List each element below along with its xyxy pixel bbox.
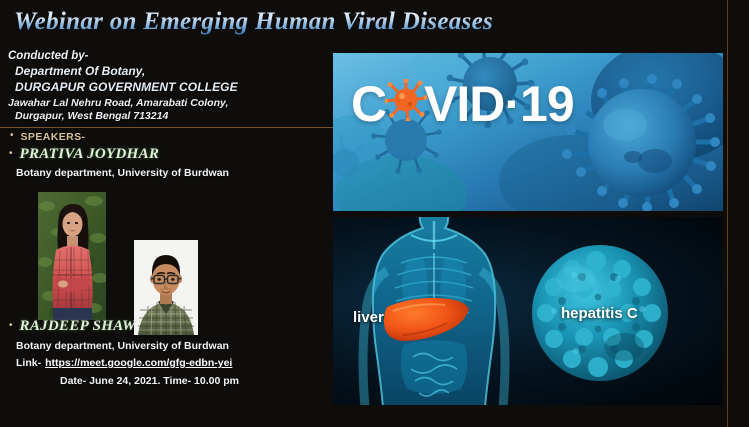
prativa-joydhar-portrait: [38, 192, 106, 320]
covid-letter-c: C: [351, 76, 386, 132]
meeting-link-label: Link-: [16, 357, 41, 369]
speaker-2-name-row: • RAJDEEP SHAW: [9, 318, 330, 335]
speaker-2-name: RAJDEEP SHAW: [20, 318, 136, 335]
speakers-heading-row: • SPEAKERS-: [10, 131, 330, 143]
covid-caption-rest: VID·19: [424, 76, 574, 132]
hepatitis-c-label: hepatitis C: [561, 305, 638, 322]
speaker-2-affiliation: Botany department, University of Burdwan: [16, 340, 330, 352]
bullet-icon: •: [9, 149, 13, 159]
meeting-link-url[interactable]: https://meet.google.com/gfg-edbn-yei: [45, 357, 232, 369]
speaker-1-name: PRATIVA JOYDHAR: [20, 146, 160, 163]
address-line-2: Durgapur, West Bengal 713214: [15, 110, 328, 122]
horizontal-divider: [0, 127, 333, 128]
right-vertical-divider: [727, 0, 728, 427]
speakers-heading: SPEAKERS-: [21, 131, 86, 143]
speaker-1-photo: [38, 192, 106, 320]
covid-19-image: COVID·19: [333, 53, 723, 211]
speaker-1-affiliation: Botany department, University of Burdwan: [16, 167, 330, 179]
meeting-datetime: Date- June 24, 2021. Time- 10.00 pm: [60, 375, 330, 387]
speakers-block: • SPEAKERS- • PRATIVA JOYDHAR Botany dep…: [10, 131, 330, 179]
conducted-by-block: Conducted by- Department Of Botany, DURG…: [6, 50, 328, 122]
conducted-by-heading: Conducted by-: [8, 50, 328, 62]
department-name: Department Of Botany,: [15, 64, 328, 78]
presentation-slide: Webinar on Emerging Human Viral Diseases…: [0, 0, 749, 427]
liver-label: liver: [353, 309, 384, 326]
bullet-icon: •: [9, 321, 13, 331]
page-title: Webinar on Emerging Human Viral Diseases: [14, 8, 714, 36]
hepatitis-c-image: liver: [333, 217, 723, 405]
lower-text-block: • RAJDEEP SHAW Botany department, Univer…: [10, 318, 330, 387]
bullet-icon: •: [10, 131, 14, 141]
orange-virus-icon: [385, 79, 427, 121]
speaker-1-name-row: • PRATIVA JOYDHAR: [9, 146, 330, 163]
address-line-1: Jawahar Lal Nehru Road, Amarabati Colony…: [8, 97, 328, 109]
college-name: DURGAPUR GOVERNMENT COLLEGE: [15, 80, 328, 94]
meeting-link-row: Link- https://meet.google.com/gfg-edbn-y…: [16, 357, 330, 369]
